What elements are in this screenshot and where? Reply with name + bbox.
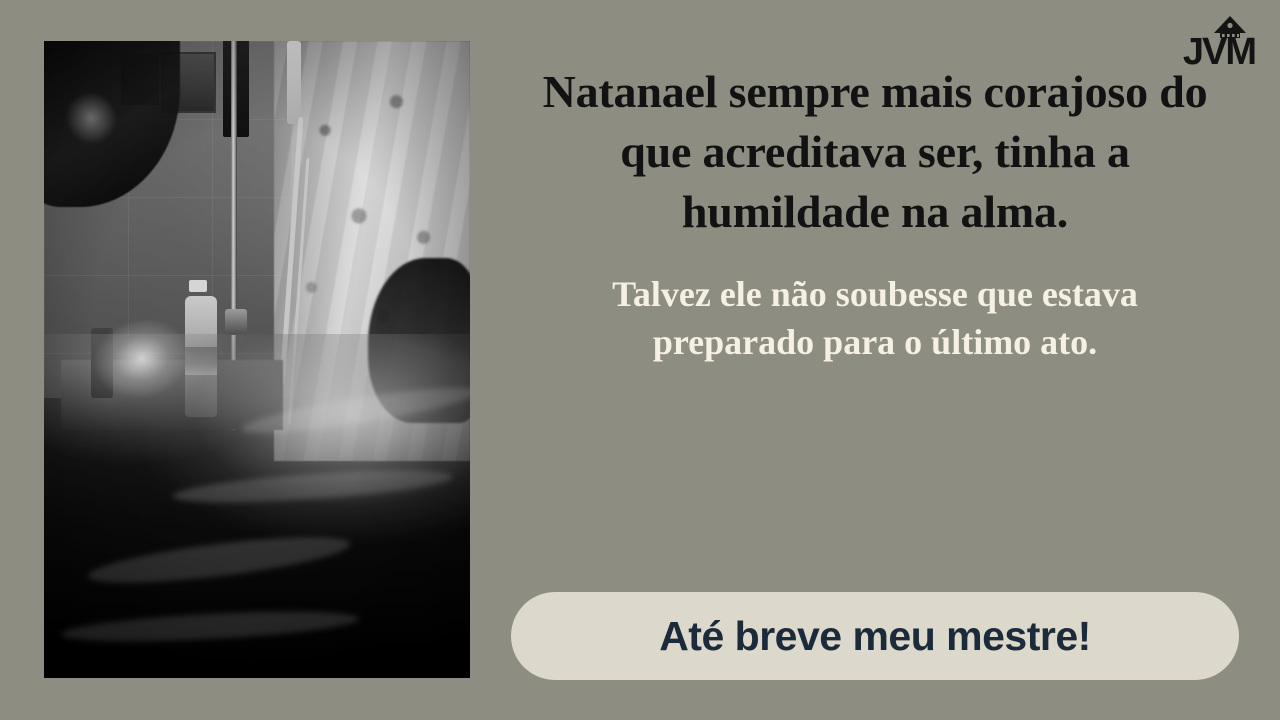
message-column: Natanael sempre mais corajoso do que acr… bbox=[506, 62, 1244, 682]
memorial-card: JVM bbox=[0, 0, 1280, 720]
cta-container: Até breve meu mestre! bbox=[510, 592, 1240, 680]
headline-text: Natanael sempre mais corajoso do que acr… bbox=[506, 62, 1244, 241]
memorial-photo-image bbox=[44, 41, 470, 678]
memorial-photo bbox=[44, 41, 470, 678]
farewell-button[interactable]: Até breve meu mestre! bbox=[511, 592, 1239, 680]
subheadline-text: Talvez ele não soubesse que estava prepa… bbox=[506, 271, 1244, 367]
farewell-button-label: Até breve meu mestre! bbox=[659, 613, 1091, 660]
